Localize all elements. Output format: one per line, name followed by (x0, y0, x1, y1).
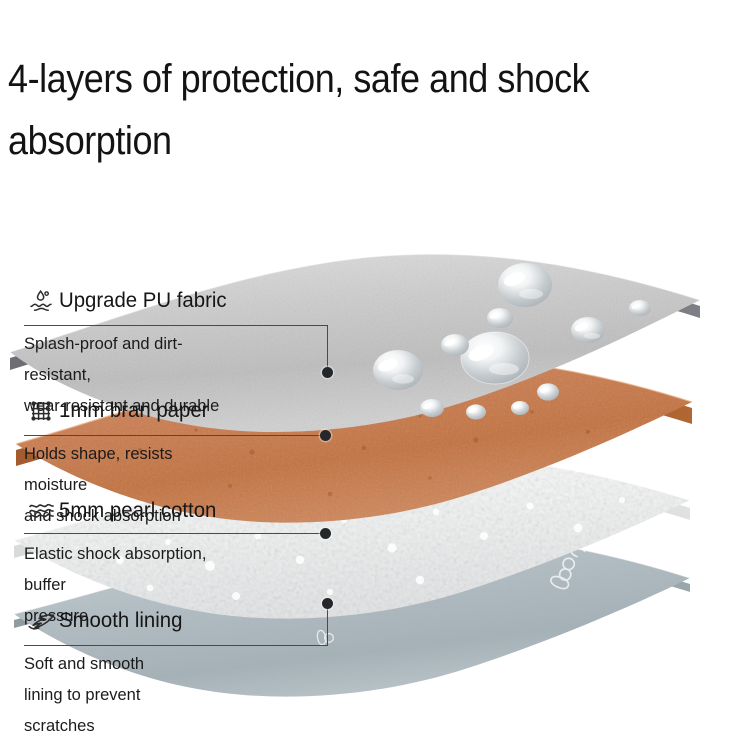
annotation-title: Smooth lining (59, 609, 182, 633)
annotation-pu-fabric: Upgrade PU fabric Splash-proof and dirt-… (0, 286, 232, 316)
annotation-description: Soft and smooth lining to prevent scratc… (24, 648, 181, 741)
leader-line-1 (24, 325, 327, 326)
infographic-canvas: 4-layers of protection, safe and shock a… (0, 0, 750, 750)
water-droplet-repellent-icon (26, 288, 56, 314)
leader-dot-2 (320, 430, 331, 441)
annotation-title: 5mm pearl cotton (59, 499, 216, 523)
leader-dot-3 (320, 528, 331, 539)
leader-line-4 (24, 645, 327, 646)
annotation-title: Upgrade PU fabric (59, 289, 227, 313)
feather-icon (26, 608, 56, 634)
leader-dot-1 (322, 367, 333, 378)
leader-dot-4 (322, 598, 333, 609)
annotation-pearl-cotton: 5mm pearl cotton Elastic shock absorptio… (0, 496, 221, 526)
grid-lattice-icon (26, 398, 56, 424)
annotation-smooth-lining: Smooth lining Soft and smooth lining to … (0, 606, 186, 636)
annotation-bran-paper: 1mm bran paper Holds shape, resists mois… (0, 396, 213, 426)
leader-rise-4 (327, 603, 328, 646)
annotation-title: 1mm bran paper (59, 399, 208, 423)
leader-line-2 (24, 435, 325, 436)
wavy-lines-icon (26, 498, 56, 524)
leader-drop-1 (327, 325, 328, 372)
leader-line-3 (24, 533, 325, 534)
